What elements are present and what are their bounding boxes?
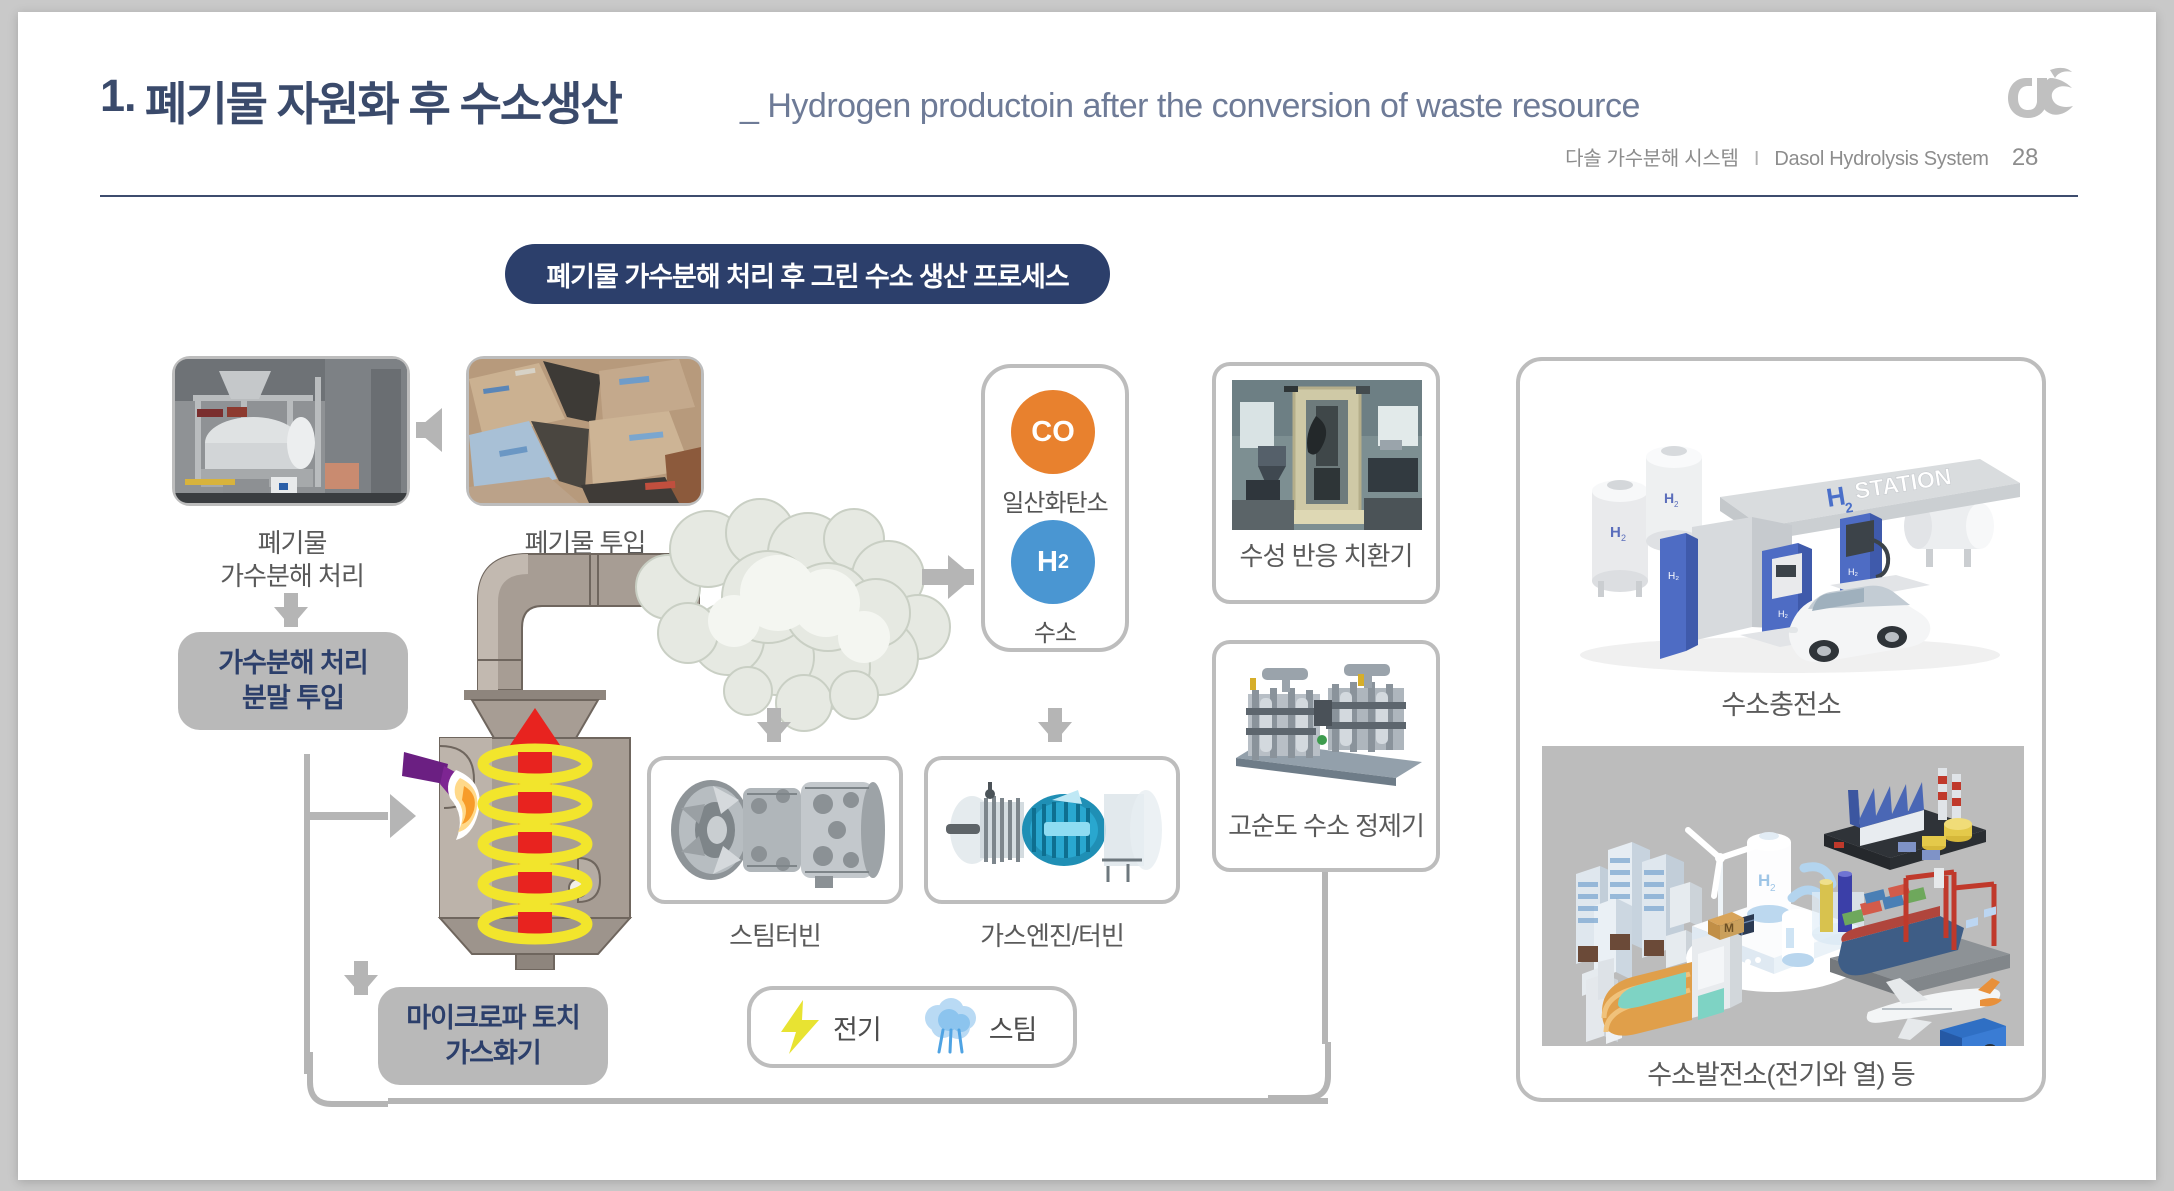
footer-en: Dasol Hydrolysis System — [1774, 148, 1988, 170]
svg-text:H: H — [1758, 871, 1770, 890]
hydrolysis-caption: 폐기물 가수분해 처리 — [142, 527, 442, 592]
steam-output: 스팀 — [881, 998, 1037, 1056]
flow-rail-bottom — [388, 1098, 1328, 1104]
powder-input-box: 가수분해 처리 분말 투입 — [178, 632, 408, 730]
footer-separator: I — [1744, 148, 1769, 170]
shift-reactor-photo — [1232, 380, 1422, 530]
hydrogen-purifier-photo — [1226, 654, 1426, 794]
to-gas-engine-arrow-icon — [1038, 722, 1072, 742]
dasol-logo-icon — [2006, 64, 2078, 120]
electricity-label: 전기 — [823, 1008, 881, 1047]
co-molecule: CO — [1011, 390, 1095, 474]
steam-turbine-card — [647, 756, 903, 904]
svg-text:2: 2 — [1674, 500, 1679, 509]
power-plant-caption: 수소발전소(전기와 열) 등 — [1520, 1059, 2042, 1093]
flow-rail-right-corner — [1268, 1042, 1388, 1104]
hydrogen-station-illustration: H 2 H 2 — [1540, 379, 2026, 679]
h2-label: 수소 — [985, 613, 1125, 648]
steam-cloud-icon — [921, 998, 979, 1056]
purifier-card: 고순도 수소 정제기 — [1212, 640, 1440, 872]
page-title: 폐기물 자원화 후 수소생산 — [145, 68, 621, 134]
flow-rail-left-vertical — [304, 754, 310, 1074]
footer-ko: 다솔 가수분해 시스템 — [1565, 148, 1738, 170]
hydrolysis-photo-card — [172, 356, 410, 506]
gas-engine-caption: 가스엔진/터빈 — [924, 920, 1180, 953]
electricity-output: 전기 — [751, 998, 881, 1056]
slide-canvas: 1. 폐기물 자원화 후 수소생산 _ Hydrogen productoin … — [18, 12, 2156, 1180]
svg-text:2: 2 — [1770, 883, 1776, 894]
syngas-plume-illustration — [628, 497, 978, 757]
page-number: 28 — [1994, 144, 2038, 171]
hydrolysis-plant-photo — [175, 359, 407, 503]
gasifier-box: 마이크로파 토치 가스화기 — [378, 987, 608, 1085]
process-banner: 폐기물 가수분해 처리 후 그린 수소 생산 프로세스 — [505, 244, 1110, 304]
energy-outputs-card: 전기 스팀 — [747, 986, 1077, 1068]
footer-note: 다솔 가수분해 시스템 I Dasol Hydrolysis System 28 — [1565, 142, 2038, 172]
hydrogen-power-city-illustration: H 2 — [1542, 746, 2024, 1046]
shift-reactor-card: 수성 반응 치환기 — [1212, 362, 1440, 604]
purifier-caption: 고순도 수소 정제기 — [1216, 810, 1436, 843]
h2-molecule: H2 — [1011, 520, 1095, 604]
co-label: 일산화탄소 — [985, 483, 1125, 518]
syngas-arrow-icon — [948, 555, 974, 599]
steam-turbine-photo — [655, 764, 895, 896]
hydrogen-applications-panel: H 2 H 2 — [1516, 357, 2046, 1102]
to-powder-arrow-icon — [274, 607, 308, 627]
steam-label: 스팀 — [979, 1008, 1037, 1047]
to-gasifier-arrow-icon — [344, 975, 378, 995]
reactor-feed-line — [310, 812, 388, 820]
slide-number: 1. — [100, 70, 136, 122]
svg-text:H: H — [1610, 524, 1621, 541]
svg-text:H₂: H₂ — [1848, 567, 1858, 577]
waste-to-plant-arrow-icon — [416, 408, 442, 452]
syngas-composition-card: CO 일산화탄소 H2 수소 — [981, 364, 1129, 652]
header-divider — [100, 195, 2078, 197]
flow-rail-left-corner — [268, 1052, 388, 1132]
gas-engine-card — [924, 756, 1180, 904]
page-subtitle: _ Hydrogen productoin after the conversi… — [740, 87, 1640, 126]
to-steam-turbine-arrow-icon — [757, 722, 791, 742]
waste-bales-photo — [469, 359, 701, 503]
flow-rail-right-vertical — [1322, 872, 1328, 1044]
gas-engine-photo — [932, 764, 1172, 896]
svg-text:H₂: H₂ — [1668, 571, 1679, 582]
station-caption: 수소충전소 — [1520, 689, 2042, 723]
steam-turbine-caption: 스팀터빈 — [647, 920, 903, 953]
svg-text:H₂: H₂ — [1778, 609, 1788, 619]
shift-reactor-caption: 수성 반응 치환기 — [1216, 540, 1436, 573]
svg-text:2: 2 — [1621, 533, 1626, 543]
svg-text:H: H — [1664, 490, 1674, 506]
svg-text:M: M — [1724, 921, 1734, 935]
lightning-bolt-icon — [777, 998, 823, 1056]
waste-photo-card — [466, 356, 704, 506]
